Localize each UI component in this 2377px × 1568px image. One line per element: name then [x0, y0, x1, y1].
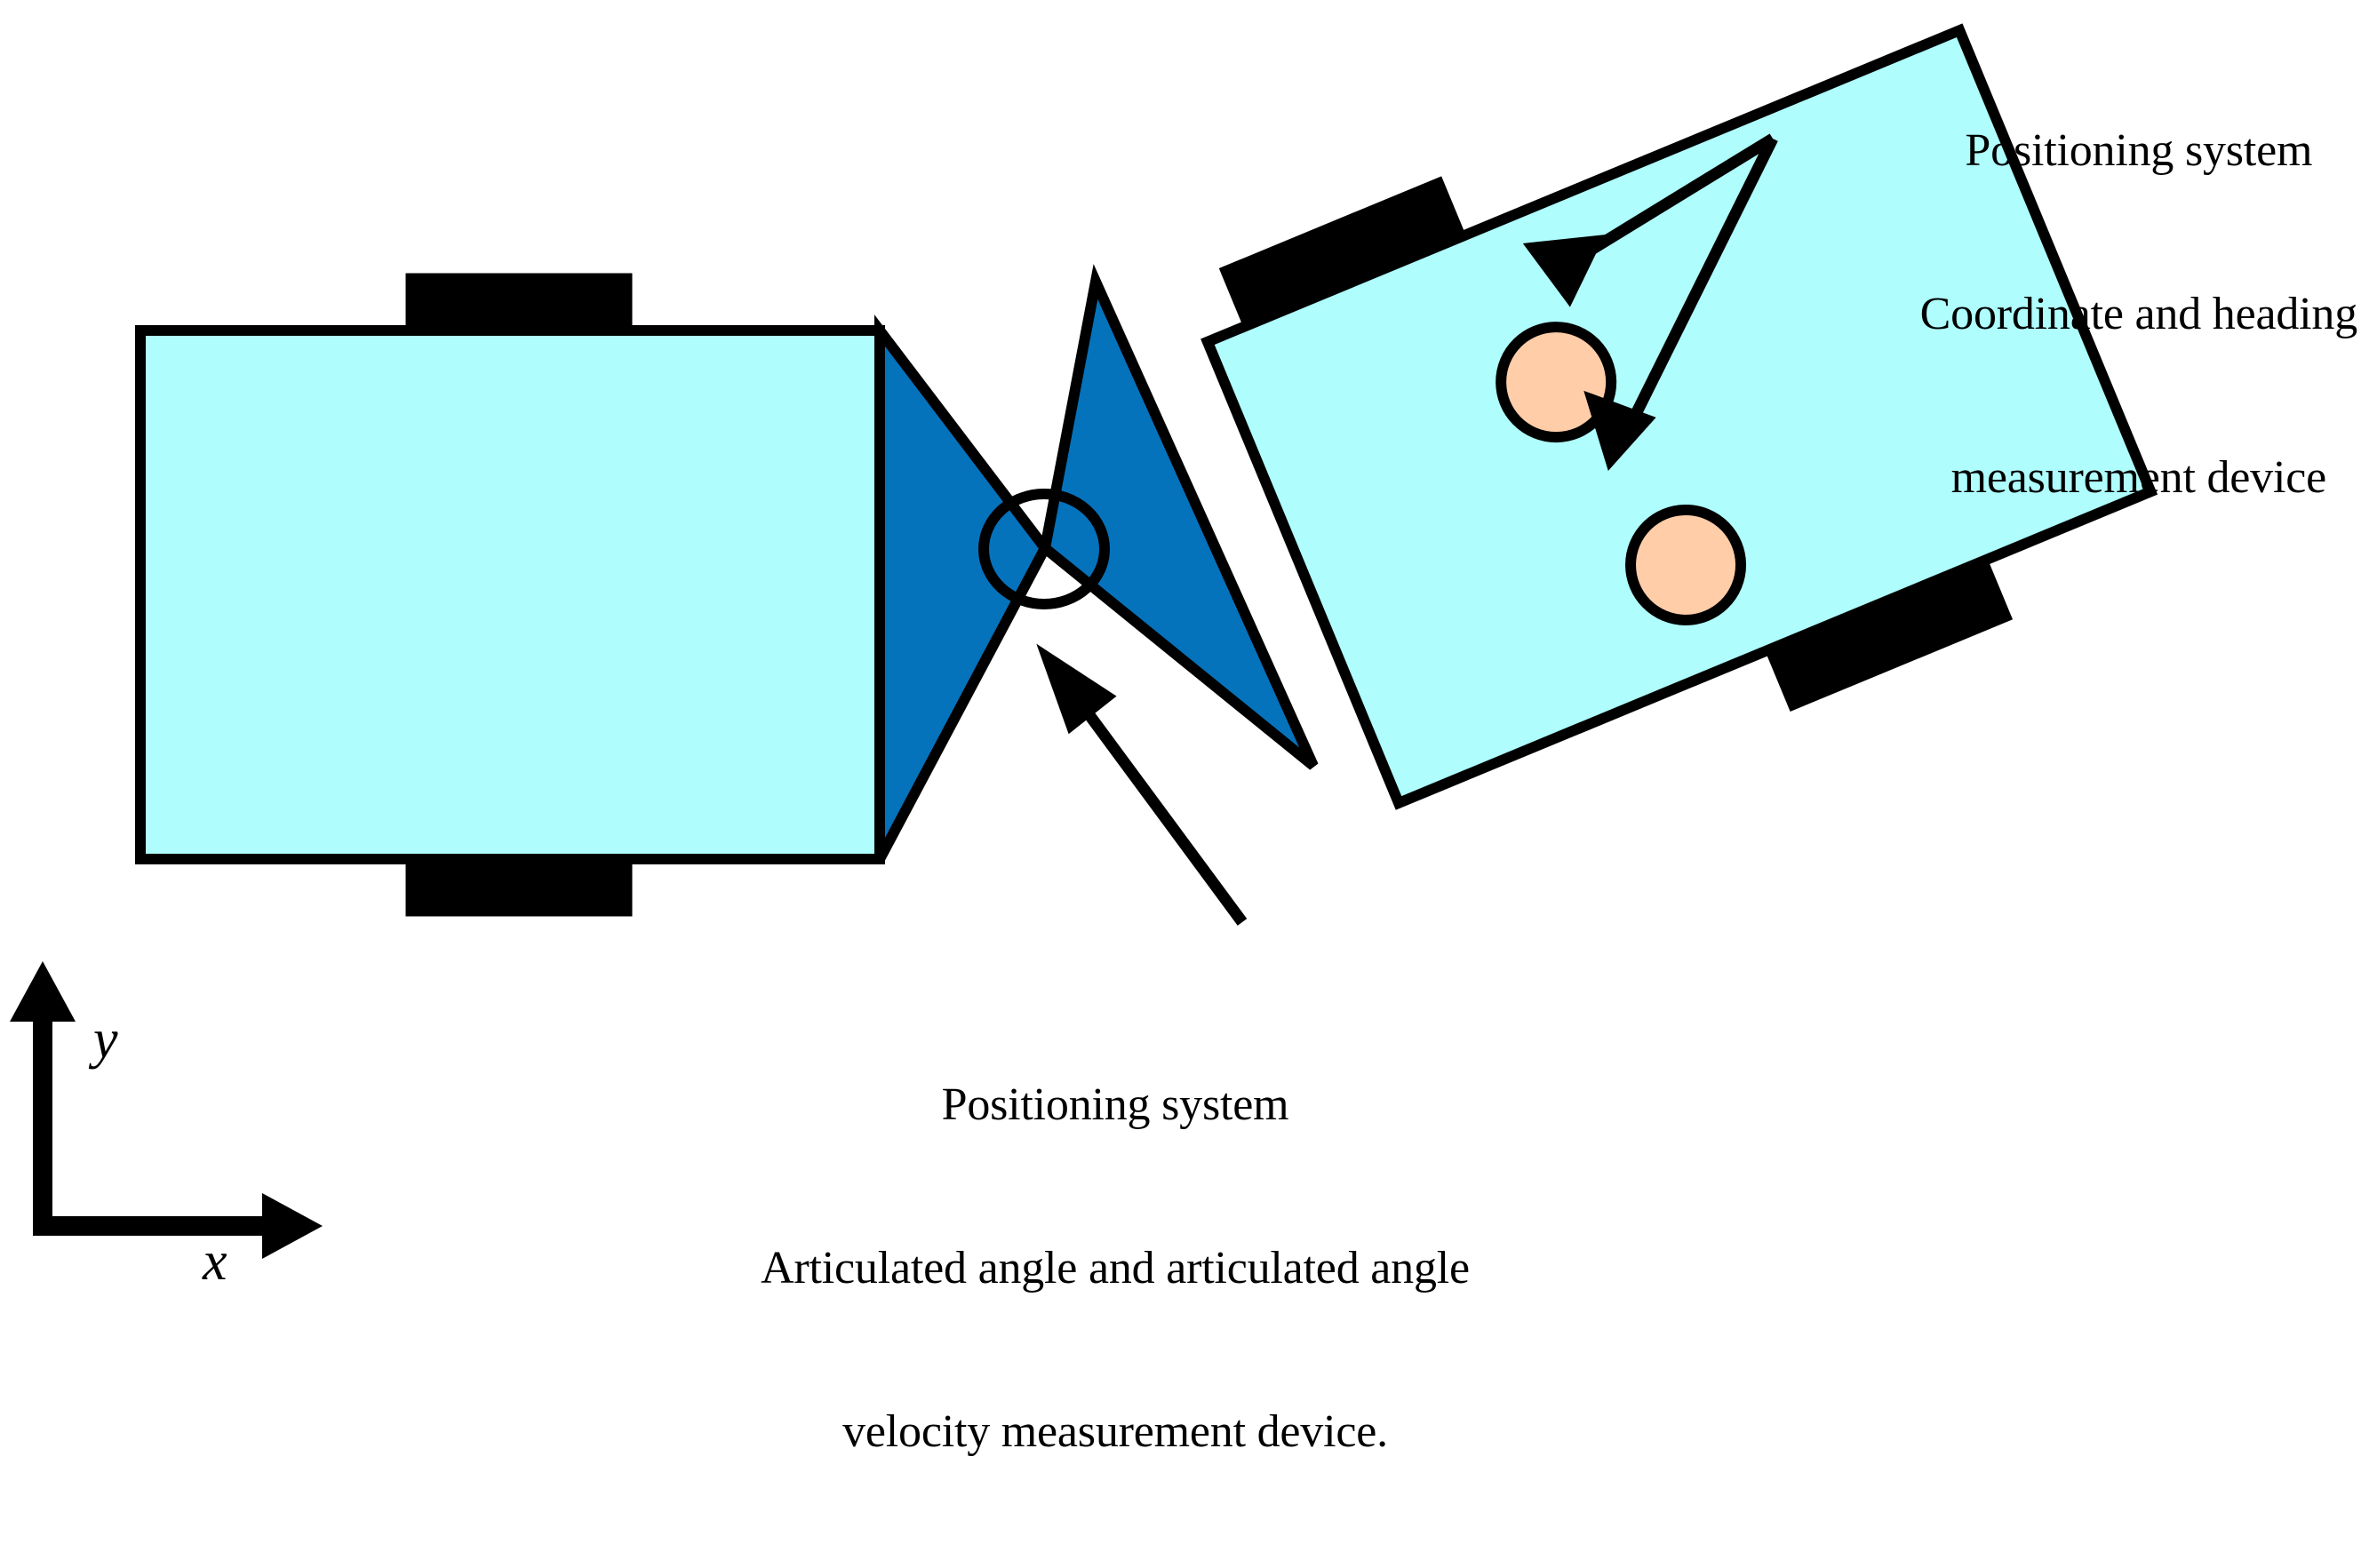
- coordinate-axes: [10, 961, 323, 1259]
- wheel-front-right: [407, 858, 631, 915]
- axis-x-arrowhead: [262, 1193, 323, 1259]
- sensor-label-line2: Coordinate and heading: [1920, 287, 2357, 341]
- axis-x-label: x: [203, 1230, 227, 1293]
- sensor-label-line1: Positioning system: [1920, 123, 2357, 178]
- sensor-label-line3: measurement device: [1920, 450, 2357, 505]
- hitch-label: Positioning system Articulated angle and…: [760, 968, 1471, 1568]
- axis-y-arrowhead: [10, 961, 76, 1022]
- hitch-leader-arrow: [1045, 655, 1242, 922]
- front-body: [140, 330, 880, 859]
- diagram-canvas: Positioning system Coordinate and headin…: [0, 0, 2377, 1316]
- hitch-label-line3: velocity measurement device.: [760, 1405, 1471, 1459]
- hitch-label-line2: Articulated angle and articulated angle: [760, 1241, 1471, 1295]
- sensor-label: Positioning system Coordinate and headin…: [1920, 14, 2357, 614]
- axis-y-label: y: [93, 1008, 118, 1071]
- hitch-label-line1: Positioning system: [760, 1078, 1471, 1132]
- wheel-front-left: [407, 275, 631, 331]
